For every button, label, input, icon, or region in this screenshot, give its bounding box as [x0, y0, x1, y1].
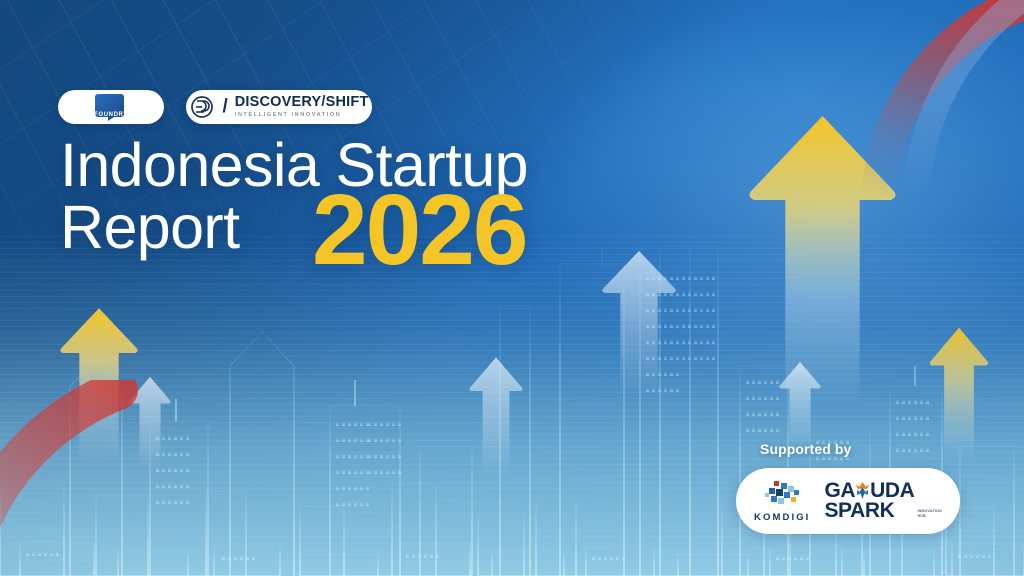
garuda-text-spark: SPARK [824, 501, 894, 521]
garuda-micro-text: INNOVATION HUB [917, 509, 942, 518]
komdigi-logo[interactable]: KOMDIGI [754, 480, 810, 523]
foundry-wordmark: FOUNDRY [94, 112, 128, 118]
headline-line-2: Report [60, 196, 240, 258]
supported-by-label: Supported by [760, 441, 851, 457]
partner-logos-pill: KOMDIGI GA UDA SP [736, 468, 960, 534]
discovery-shift-badge[interactable]: / DISCOVERY/SHIFT INTELLIGENT INNOVATION [186, 90, 372, 124]
discovery-shift-title: DISCOVERY/SHIFT [235, 95, 369, 110]
garuda-text-ga: GA [824, 481, 855, 501]
garuda-spark-logo[interactable]: GA UDA SPARK INNOVATION HUB [824, 481, 942, 521]
headline-year: 2026 [312, 180, 526, 280]
komdigi-pixel-cluster-icon [761, 480, 803, 508]
supported-by-block: Supported by [760, 441, 851, 457]
foundry-badge[interactable]: FOUNDRY [58, 90, 164, 124]
komdigi-wordmark: KOMDIGI [754, 512, 810, 523]
discovery-shift-slash: / [222, 97, 227, 116]
report-cover-banner: FOUNDRY / DISCOVERY/SHIFT INTELLIGENT IN… [0, 0, 1024, 576]
foundry-square-mark: FOUNDRY [94, 93, 128, 122]
garuda-text-uda: UDA [870, 481, 914, 501]
cover-headline: Indonesia Startup Report 2026 [60, 134, 600, 258]
discovery-shift-tagline: INTELLIGENT INNOVATION [235, 113, 369, 119]
discovery-shift-circle-mark [189, 95, 215, 119]
garuda-bird-icon [854, 481, 871, 500]
